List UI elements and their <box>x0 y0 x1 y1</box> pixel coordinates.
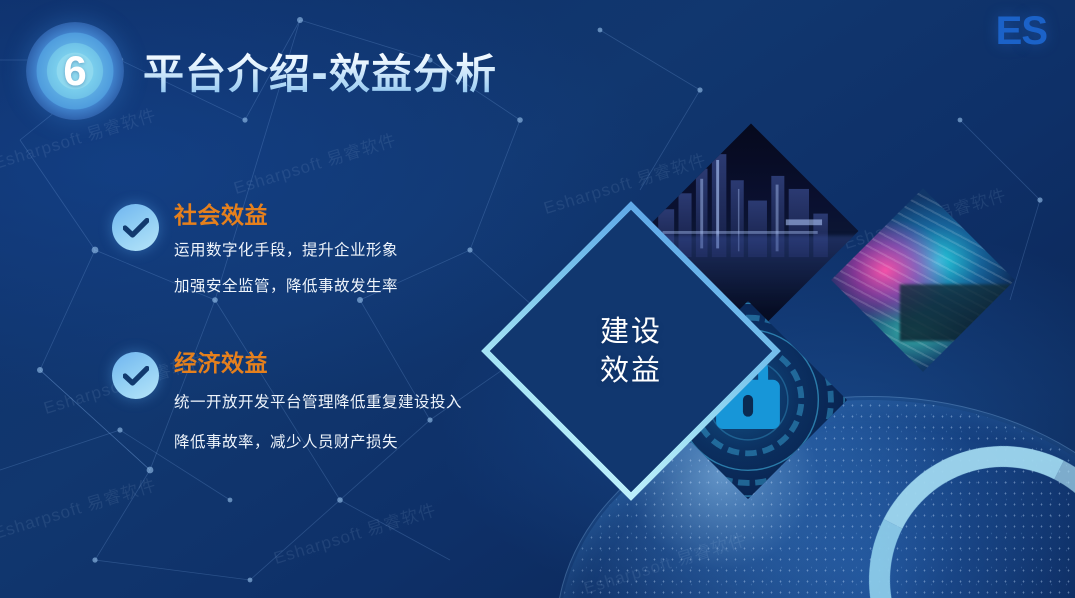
benefit-heading: 社会效益 <box>174 196 268 230</box>
benefit-line: 运用数字化手段，提升企业形象 <box>174 238 398 260</box>
es-logo: ES <box>996 9 1047 54</box>
check-glyph <box>123 366 149 386</box>
benefit-line: 统一开放开发平台管理降低重复建设投入 <box>174 390 462 412</box>
slide-number: 6 <box>63 50 86 92</box>
decorative-arc <box>834 411 1075 598</box>
photo-diamond-lightshow <box>831 188 1015 372</box>
center-diamond-line2: 效益 <box>600 354 662 387</box>
watermark-text: Esharpsoft 易睿软件 <box>230 126 399 199</box>
slide-canvas: Esharpsoft 易睿软件 Esharpsoft 易睿软件 Esharpso… <box>0 0 1075 598</box>
watermark-text: Esharpsoft 易睿软件 <box>270 496 439 569</box>
center-diamond-label: 建设 效益 <box>525 245 737 457</box>
benefit-line: 降低事故率，减少人员财产损失 <box>174 430 398 452</box>
check-icon <box>112 204 159 251</box>
benefit-heading: 经济效益 <box>174 344 268 378</box>
lightshow-image <box>831 188 1015 372</box>
benefit-line: 加强安全监管，降低事故发生率 <box>174 274 398 296</box>
center-diamond-line1: 建设 <box>600 315 662 348</box>
page-title: 平台介绍-效益分析 <box>143 40 497 100</box>
watermark-text: Esharpsoft 易睿软件 <box>580 526 749 598</box>
slide-number-badge: 6 <box>26 22 124 120</box>
check-icon <box>112 352 159 399</box>
check-glyph <box>123 218 149 238</box>
watermark-text: Esharpsoft 易睿软件 <box>0 471 159 544</box>
